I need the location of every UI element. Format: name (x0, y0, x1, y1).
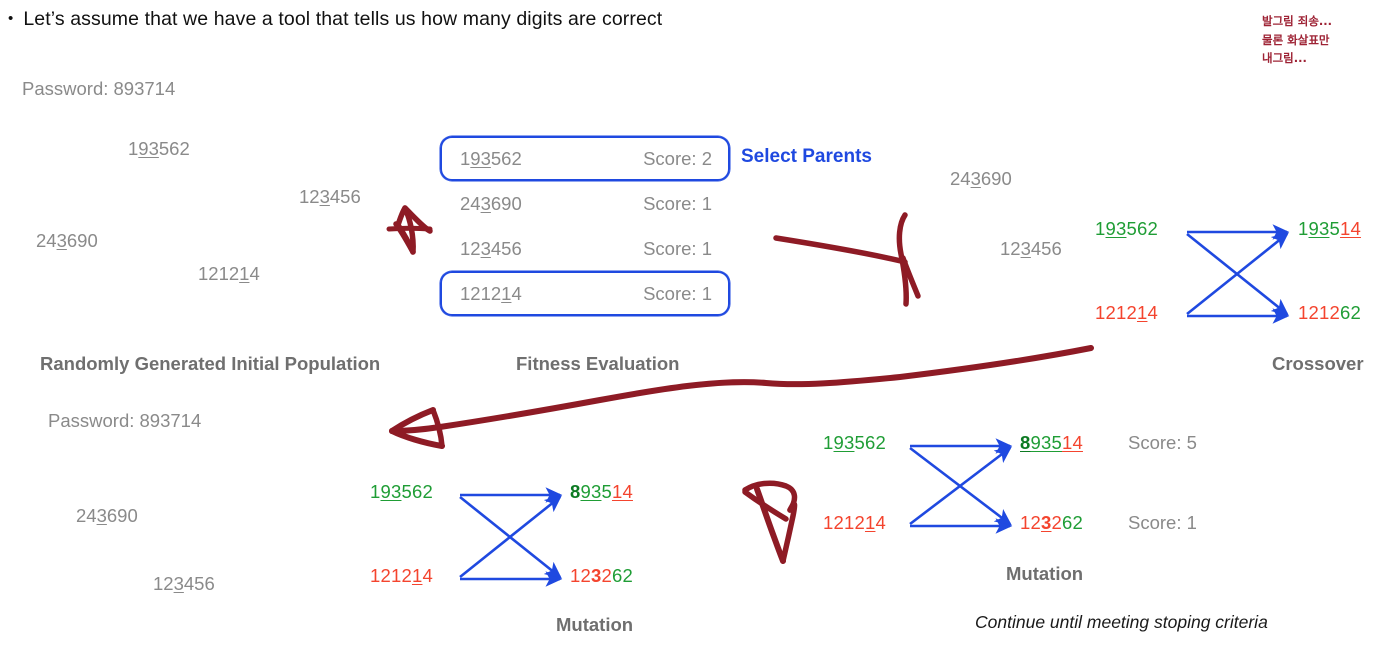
slide-bullet: • Let’s assume that we have a tool that … (8, 8, 662, 31)
caption-fitness-evaluation: Fitness Evaluation (516, 353, 679, 375)
fitness-row[interactable]: 243690 Score: 1 (440, 181, 730, 226)
initial-population-gene-2: 123456 (299, 186, 361, 208)
initial-population-gene-3: 243690 (36, 230, 98, 252)
mutation-right-score-top: Score: 5 (1128, 432, 1197, 454)
fitness-row-gene: 193562 (460, 148, 522, 170)
password-label-top: Password: 893714 (22, 78, 175, 100)
fitness-row[interactable]: 121214 Score: 1 (440, 271, 730, 316)
mutation-right-arrows (823, 432, 1123, 542)
second-population-gene-1: 243690 (950, 168, 1012, 190)
fitness-row-gene: 243690 (460, 193, 522, 215)
fitness-row-score: Score: 1 (643, 193, 712, 215)
closing-note: Continue until meeting stoping criteria (975, 612, 1268, 633)
initial-population-gene-1: 193562 (128, 138, 190, 160)
fitness-evaluation-table: 193562 Score: 2 243690 Score: 1 123456 S… (440, 136, 730, 316)
mutation-right-score-bottom: Score: 1 (1128, 512, 1197, 534)
mutation-diagram-right: 193562 121214 893514 123262 Score: 5 Sco… (823, 432, 1123, 542)
initial-population-gene-4: 121214 (198, 263, 260, 285)
memo-line-3: 내그림... (1262, 49, 1332, 68)
fitness-row-gene: 121214 (460, 283, 522, 305)
fitness-row-score: Score: 1 (643, 238, 712, 260)
select-parents-label: Select Parents (741, 146, 872, 168)
second-population-gene-2: 123456 (1000, 238, 1062, 260)
bottom-population-gene-2: 123456 (153, 573, 215, 595)
fitness-row-score: Score: 2 (643, 148, 712, 170)
caption-mutation-right: Mutation (1006, 563, 1083, 585)
memo-line-1: 발그림 죄송... (1262, 12, 1332, 31)
caption-crossover: Crossover (1272, 353, 1364, 375)
korean-memo: 발그림 죄송... 물론 화살표만 내그림... (1262, 12, 1332, 68)
crossover-diagram: 193562 121214 193514 121262 (1095, 218, 1393, 328)
mutation-diagram-middle: 193562 121214 893514 123262 (370, 481, 670, 591)
fitness-row-gene: 123456 (460, 238, 522, 260)
fitness-row-score: Score: 1 (643, 283, 712, 305)
memo-line-2: 물론 화살표만 (1262, 31, 1332, 50)
fitness-row[interactable]: 123456 Score: 1 (440, 226, 730, 271)
crossover-arrows (1095, 218, 1393, 328)
caption-mutation-middle: Mutation (556, 614, 633, 636)
hand-drawn-annotation-layer (0, 0, 1393, 657)
bottom-population-gene-1: 243690 (76, 505, 138, 527)
slide-bullet-text: Let’s assume that we have a tool that te… (23, 8, 662, 31)
caption-initial-population: Randomly Generated Initial Population (40, 353, 380, 375)
password-label-bottom: Password: 893714 (48, 410, 201, 432)
mutation-mid-arrows (370, 481, 670, 591)
bullet-marker-icon: • (8, 11, 13, 26)
fitness-row[interactable]: 193562 Score: 2 (440, 136, 730, 181)
